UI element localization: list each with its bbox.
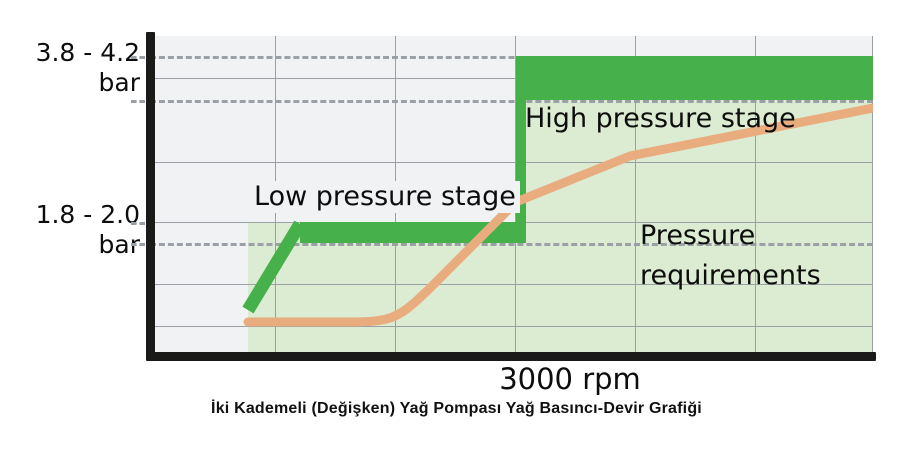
y-axis-tick-low-pressure: 1.8 - 2.0 bar [0, 200, 140, 260]
figure-caption: İki Kademeli (Değişken) Yağ Pompası Yağ … [0, 400, 913, 418]
annotation-pressure-requirements-line2: requirements [640, 256, 821, 296]
x-axis-tick-3000-rpm: 3000 rpm [430, 362, 710, 396]
annotation-pressure-requirements-line1: Pressure [640, 216, 821, 256]
x-axis-spine [146, 352, 876, 361]
tick-stub-high-upper [131, 56, 145, 59]
oil-pressure-rpm-chart: 3.8 - 4.2 bar 1.8 - 2.0 bar [0, 0, 913, 455]
y-axis-tick-low-value: 1.8 - 2.0 [36, 200, 140, 229]
y-axis-spine [146, 32, 155, 360]
annotation-pressure-requirements: Pressure requirements [640, 216, 821, 296]
annotation-low-pressure-stage: Low pressure stage [250, 181, 520, 213]
annotation-high-pressure-stage: High pressure stage [525, 102, 796, 136]
y-axis-tick-low-unit: bar [0, 230, 140, 260]
plot-area: Low pressure stage High pressure stage P… [150, 36, 873, 354]
y-axis-tick-high-value: 3.8 - 4.2 [36, 38, 140, 67]
tick-stub-low-lower [131, 243, 145, 246]
tick-stub-high-lower [131, 100, 145, 103]
y-axis-tick-high-pressure: 3.8 - 4.2 bar [0, 38, 140, 98]
y-axis-tick-high-unit: bar [0, 68, 140, 98]
tick-stub-low-upper [131, 222, 145, 225]
